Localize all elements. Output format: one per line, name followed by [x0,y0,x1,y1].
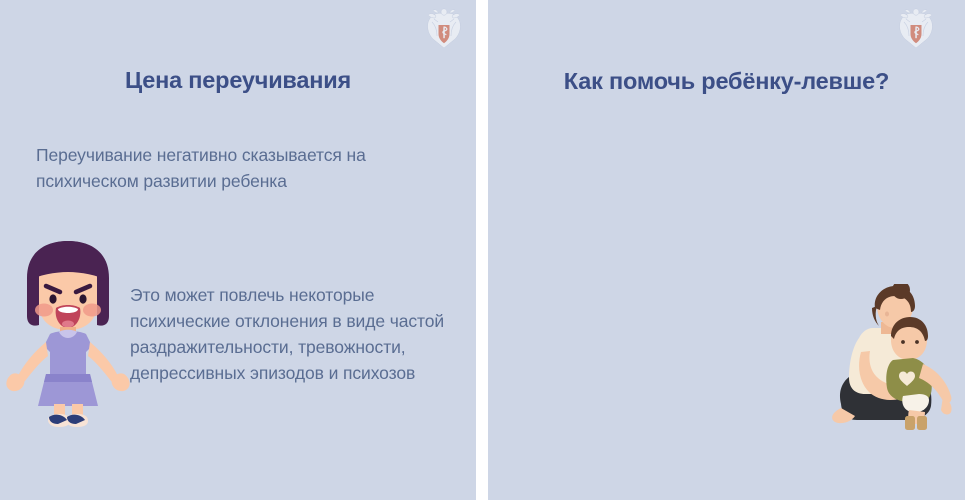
slide-title: Цена переучивания [0,67,476,94]
slide-divider-gap [476,0,488,500]
slide-how-to-help-left-handed-child: Как помочь ребёнку-левше? Больше разраба… [488,0,965,500]
slide-deck: Цена переучивания Переучивание негативно… [0,0,965,500]
slide-paragraph-consequences: Это может повлечь некоторые психические … [130,282,460,386]
slide-paragraph-intro: Переучивание негативно сказывается на пс… [36,142,446,194]
mother-hugging-child-illustration [815,284,961,434]
angry-girl-illustration [2,234,134,432]
slide-title: Как помочь ребёнку-левше? [488,68,965,95]
russian-ministry-of-health-emblem-icon [424,8,464,52]
slide-cost-of-retraining: Цена переучивания Переучивание негативно… [0,0,476,500]
russian-ministry-of-health-emblem-icon [896,8,936,52]
